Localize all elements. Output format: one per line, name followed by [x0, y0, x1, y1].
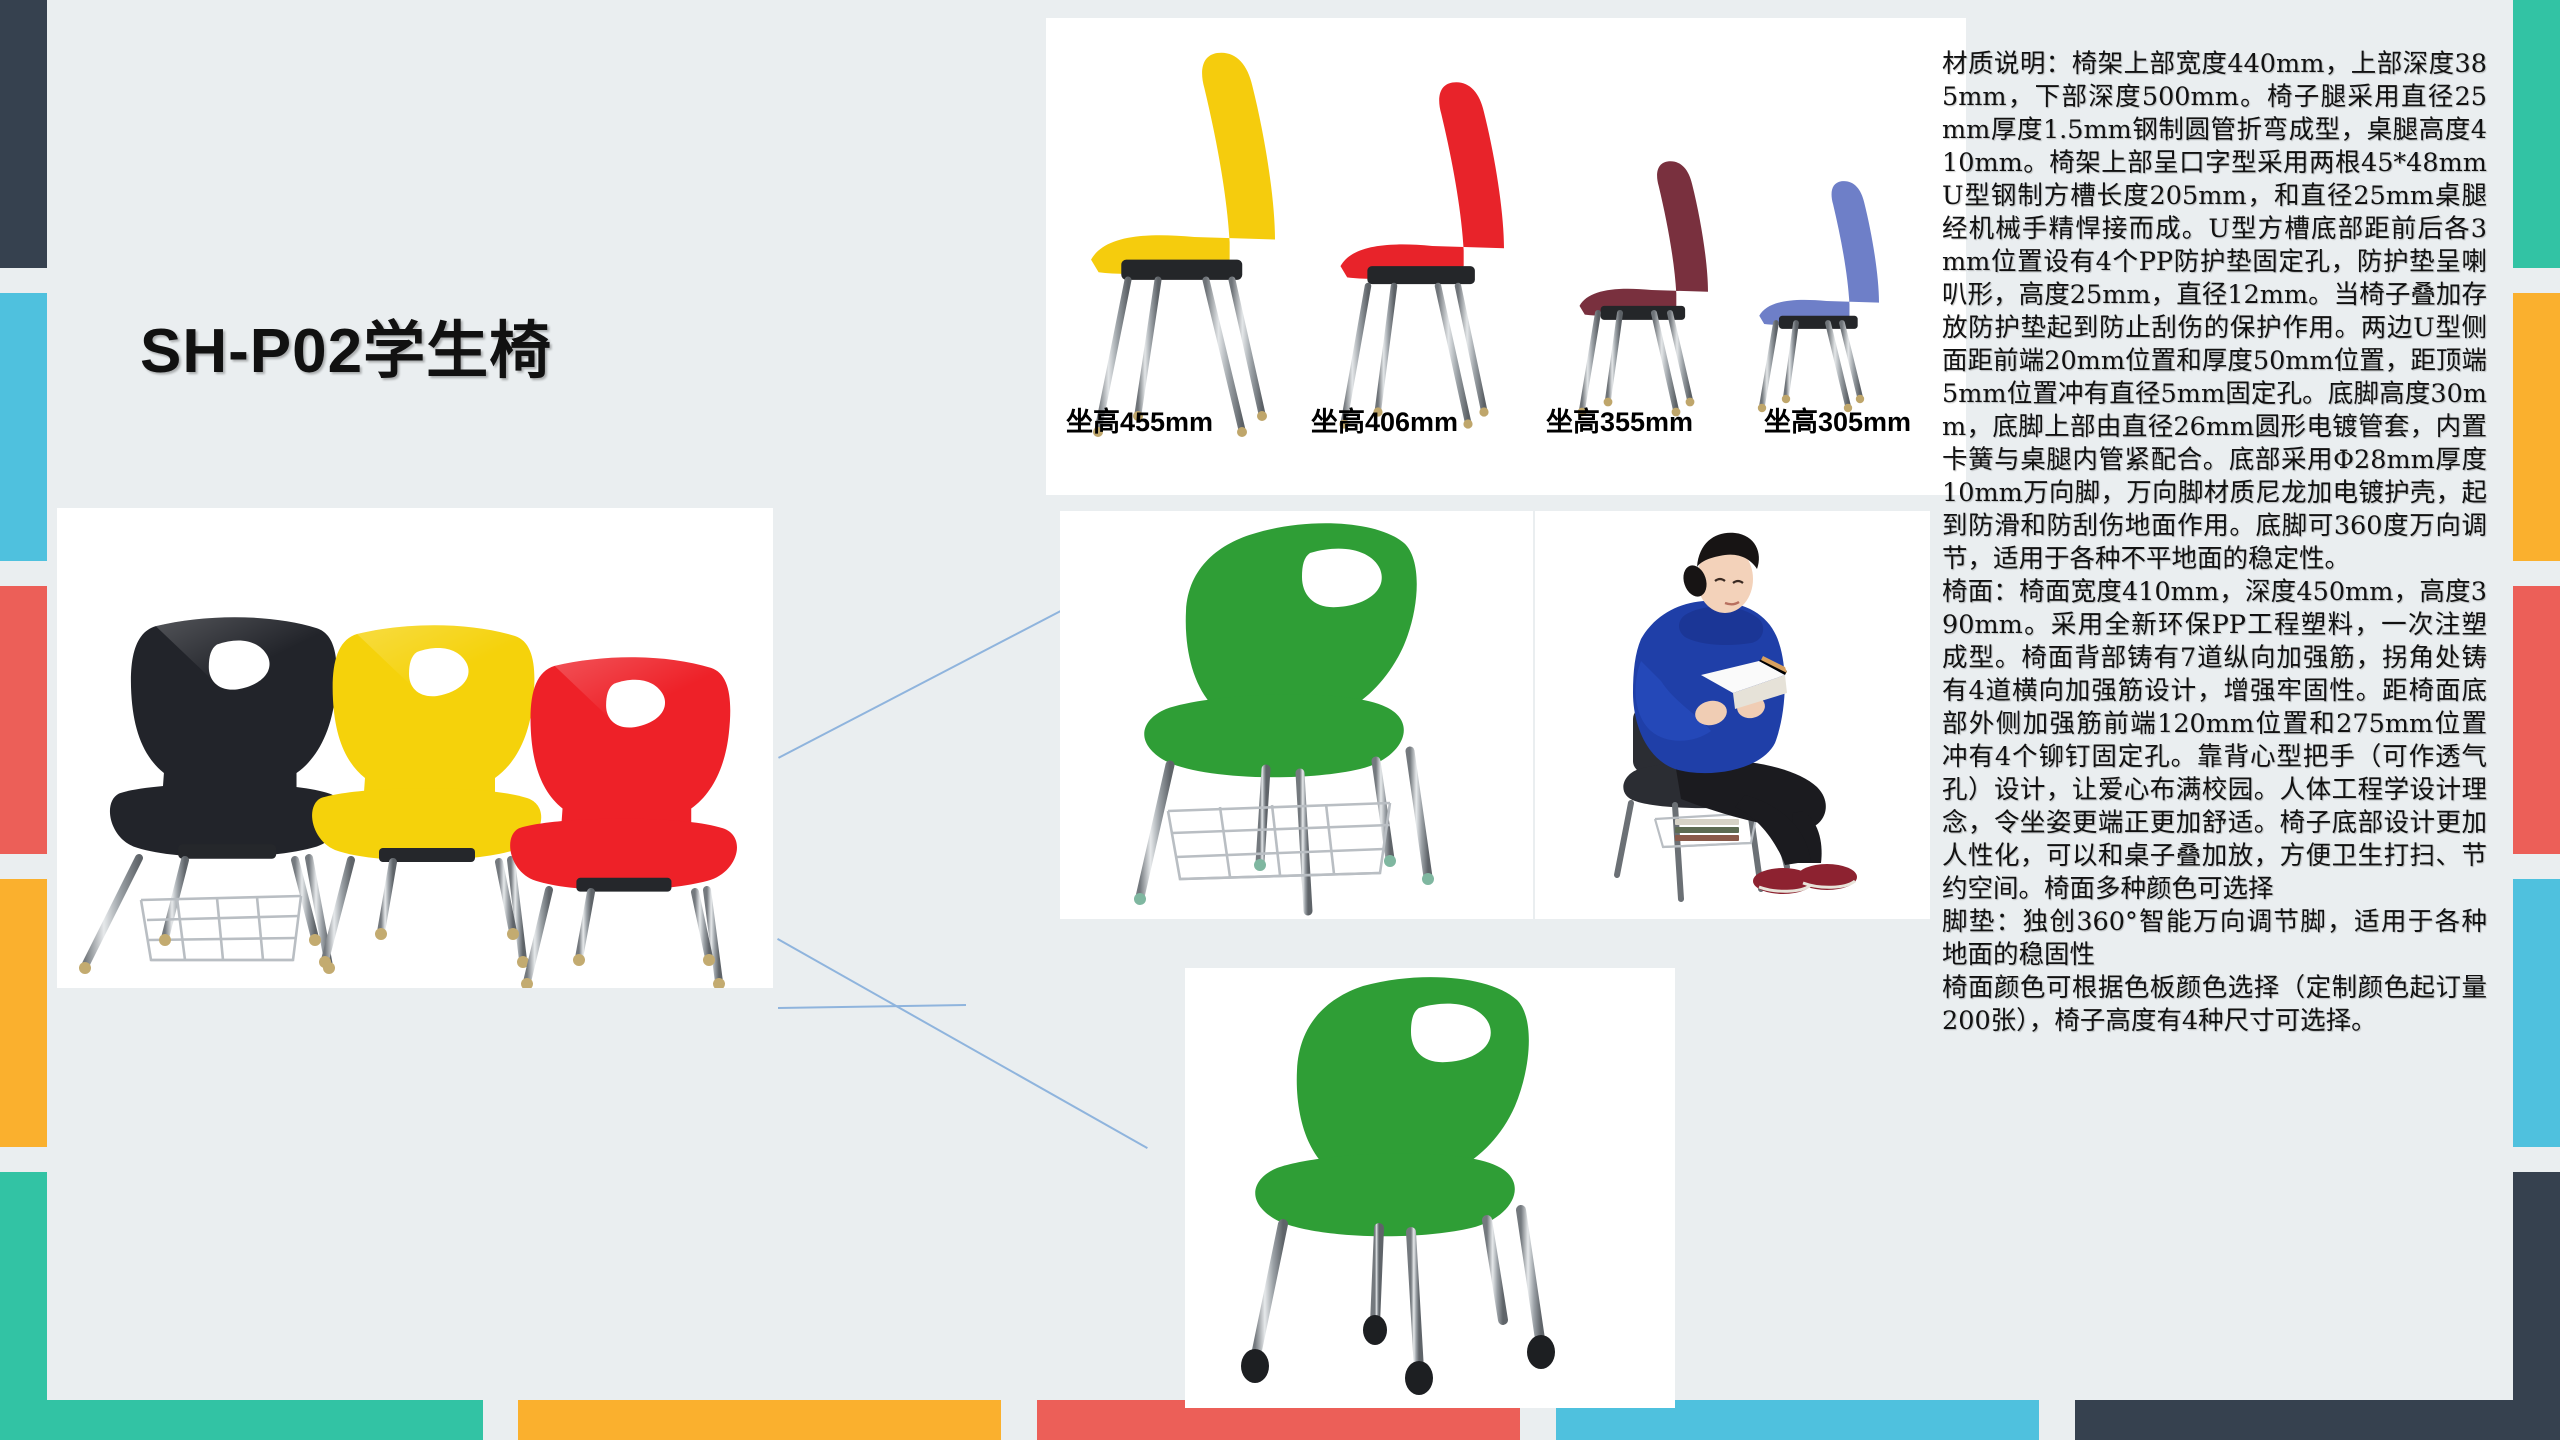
connector-line-middle	[778, 1004, 966, 1009]
wire-book-basket	[1168, 803, 1390, 879]
size-label-355: 坐高355mm	[1546, 400, 1693, 439]
size-label-305: 坐高305mm	[1764, 400, 1911, 439]
edge-bar-bottom-teal	[0, 1400, 483, 1440]
size-chair-blue	[1758, 181, 1879, 412]
connector-line-bottom	[777, 938, 1148, 1149]
size-label-row: 坐高455mm 坐高406mm 坐高355mm 坐高305mm	[1046, 400, 1966, 450]
size-chair-red	[1339, 82, 1504, 428]
edge-bar-bottom-navy	[2075, 1400, 2560, 1440]
green-chair-shell	[1144, 523, 1417, 777]
green-chair-photo	[1060, 511, 1533, 919]
edge-bar-left-cyan	[0, 293, 47, 561]
edge-bar-right-teal	[2513, 0, 2560, 268]
books-in-basket	[1675, 819, 1739, 841]
edge-bar-bottom-orange	[518, 1400, 1001, 1440]
main-chair-black	[79, 617, 344, 974]
caster-wheel	[1241, 1315, 1555, 1395]
main-chair-yellow	[312, 625, 541, 968]
spec-paragraph-footpad: 脚垫：独创360°智能万向调节脚，适用于各种地面的稳固性	[1942, 906, 2487, 972]
size-label-455: 坐高455mm	[1066, 400, 1213, 439]
spec-paragraph-seat: 椅面：椅面宽度410mm，深度450mm，高度390mm。采用全新环保PP工程塑…	[1942, 576, 2487, 906]
caster-chair-photo	[1185, 968, 1675, 1408]
edge-bar-left-orange	[0, 879, 47, 1147]
size-label-406: 坐高406mm	[1311, 400, 1458, 439]
edge-bar-right-orange	[2513, 293, 2560, 561]
student-figure	[1633, 533, 1857, 894]
caster-chair-shell	[1255, 977, 1529, 1236]
slide-canvas: SH-P02学生椅	[0, 0, 2560, 1440]
student-seated-photo	[1535, 511, 1930, 919]
main-chair-red	[510, 657, 737, 988]
edge-bar-right-red	[2513, 586, 2560, 854]
edge-bar-right-cyan	[2513, 879, 2560, 1147]
page-title: SH-P02学生椅	[140, 300, 552, 390]
size-chair-maroon	[1578, 161, 1708, 416]
edge-bar-left-red	[0, 586, 47, 854]
edge-bar-left-navy	[0, 0, 47, 268]
spec-text-block: 材质说明：椅架上部宽度440mm，上部深度385mm，下部深度500mm。椅子腿…	[1942, 48, 2487, 1038]
spec-paragraph-material: 材质说明：椅架上部宽度440mm，上部深度385mm，下部深度500mm。椅子腿…	[1942, 48, 2487, 576]
size-chair-yellow	[1091, 53, 1275, 437]
main-product-photo	[57, 508, 773, 988]
spec-paragraph-colors: 椅面颜色可根据色板颜色选择（定制颜色起订量200张），椅子高度有4种尺寸可选择。	[1942, 972, 2487, 1038]
